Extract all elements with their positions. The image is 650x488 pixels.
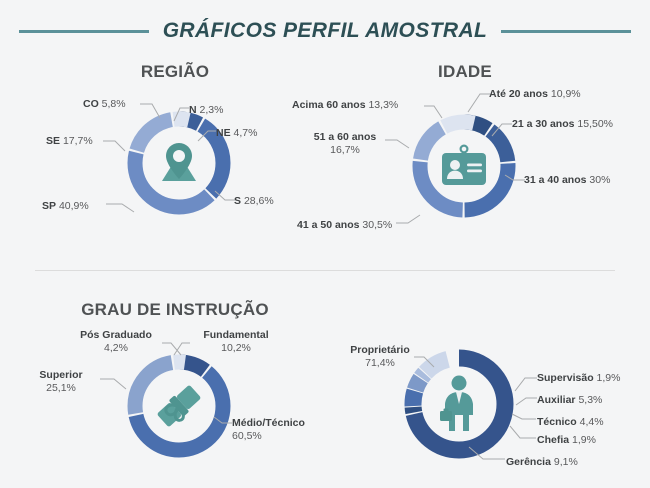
leader-41-50 [396, 212, 422, 228]
diploma-icon [151, 380, 207, 432]
label-51-60: 51 a 60 anos 16,7% [306, 131, 384, 156]
leader-31-40 [503, 172, 527, 186]
label-n: N 2,3% [189, 104, 223, 116]
leader-chefia [508, 424, 538, 442]
label-auxiliar: Auxiliar 5,3% [537, 394, 602, 406]
label-41-50: 41 a 50 anos 30,5% [297, 219, 392, 231]
leader-sp [106, 198, 136, 216]
leader-supervisao [513, 376, 539, 394]
page-header: GRÁFICOS PERFIL AMOSTRAL [0, 14, 650, 48]
header-rule-left [19, 30, 149, 33]
label-co: CO 5,8% [83, 98, 126, 110]
label-tecnico: Técnico 4,4% [537, 416, 604, 428]
chart-title-regiao: REGIÃO [55, 62, 295, 82]
label-sp: SP 40,9% [42, 200, 89, 212]
section-divider [35, 270, 615, 271]
label-medio-tecnico: Médio/Técnico 60,5% [232, 417, 326, 442]
label-31-40: 31 a 40 anos 30% [524, 174, 610, 186]
label-pos-graduado: Pós Graduado 4,2% [70, 329, 162, 354]
leader-ne [196, 128, 218, 144]
leader-21-30 [490, 122, 514, 140]
label-proprietario: Proprietário 71,4% [340, 344, 420, 369]
leader-medio-tecnico [212, 415, 234, 431]
leader-acima-60 [424, 103, 446, 121]
label-21-30: 21 a 30 anos 15,50% [512, 118, 613, 130]
label-fundamental: Fundamental 10,2% [190, 329, 282, 354]
infographic-page: GRÁFICOS PERFIL AMOSTRAL REGIÃO [0, 0, 650, 488]
label-se: SE 17,7% [46, 135, 93, 147]
label-chefia: Chefia 1,9% [537, 434, 596, 446]
leader-proprietario [414, 354, 436, 370]
donut-chart-grau-instrucao [123, 350, 235, 462]
leader-s [213, 188, 237, 206]
businessman-icon [432, 375, 486, 433]
leader-se [103, 137, 127, 155]
leader-auxiliar [514, 393, 539, 409]
leader-51-60 [385, 136, 411, 152]
label-superior: Superior 25,1% [22, 369, 100, 394]
header-rule-right [501, 30, 631, 33]
label-gerencia: Gerência 9,1% [506, 456, 578, 468]
leader-gerencia [467, 445, 507, 463]
label-supervisao: Supervisão 1,9% [537, 372, 620, 384]
leader-n [171, 105, 191, 123]
id-badge-icon [439, 144, 489, 188]
leader-superior [100, 375, 128, 393]
leader-co [140, 100, 164, 122]
page-title: GRÁFICOS PERFIL AMOSTRAL [163, 19, 488, 43]
label-acima-60: Acima 60 anos 13,3% [292, 99, 398, 111]
chart-title-idade: IDADE [345, 62, 585, 82]
leader-fundamental [172, 340, 192, 358]
label-ate-20: Até 20 anos 10,9% [489, 88, 581, 100]
map-pin-icon [156, 141, 202, 185]
leader-ate-20 [466, 92, 492, 114]
label-s: S 28,6% [234, 195, 274, 207]
label-ne: NE 4,7% [216, 127, 257, 139]
chart-title-grau-instrucao: GRAU DE INSTRUÇÃO [55, 300, 295, 320]
